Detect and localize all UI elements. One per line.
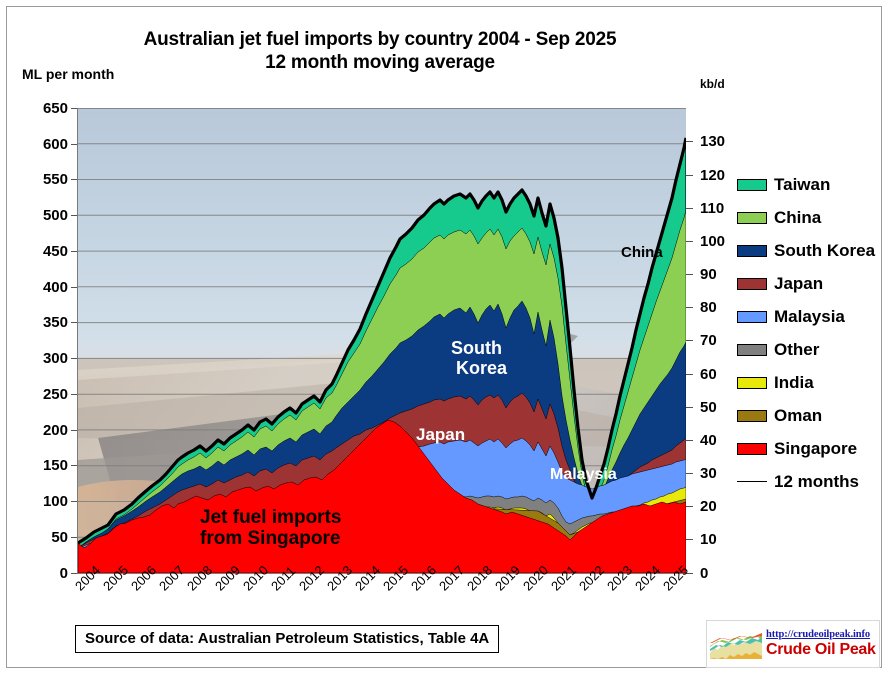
legend-swatch-12-months [737, 481, 767, 482]
y-right-label-70: 70 [700, 332, 742, 349]
legend-label-china: China [774, 208, 821, 228]
legend-swatch-malaysia [737, 311, 767, 323]
legend-label-other: Other [774, 340, 819, 360]
legend-item-japan[interactable]: Japan [737, 267, 885, 300]
legend-swatch-taiwan [737, 179, 767, 191]
legend-label-malaysia: Malaysia [774, 307, 845, 327]
annotation-japan: Japan [416, 425, 465, 444]
legend-swatch-other [737, 344, 767, 356]
legend-swatch-china [737, 212, 767, 224]
legend-label-12-months: 12 months [774, 472, 859, 492]
y-label-50: 50 [8, 529, 68, 546]
legend-swatch-singapore [737, 443, 767, 455]
y-label-550: 550 [8, 171, 68, 188]
y-right-label-120: 120 [700, 167, 742, 184]
logo-url[interactable]: http://crudeoilpeak.info [766, 629, 876, 640]
y-label-0: 0 [8, 565, 68, 582]
annotation-singapore-line2: from Singapore [200, 528, 340, 549]
legend-swatch-japan [737, 278, 767, 290]
y-label-400: 400 [8, 279, 68, 296]
y-label-250: 250 [8, 386, 68, 403]
legend: Taiwan China South Korea Japan Malaysia … [737, 168, 885, 498]
legend-item-12-months[interactable]: 12 months [737, 465, 885, 498]
y-label-200: 200 [8, 422, 68, 439]
legend-label-south-korea: South Korea [774, 241, 875, 261]
y-right-label-130: 130 [700, 133, 742, 150]
legend-item-malaysia[interactable]: Malaysia [737, 300, 885, 333]
annotation-south-korea-line2: Korea [456, 358, 507, 378]
y-right-label-80: 80 [700, 299, 742, 316]
legend-item-oman[interactable]: Oman [737, 399, 885, 432]
legend-label-oman: Oman [774, 406, 822, 426]
y-label-500: 500 [8, 207, 68, 224]
legend-item-india[interactable]: India [737, 366, 885, 399]
y-label-300: 300 [8, 350, 68, 367]
logo-mini-chart-icon [710, 629, 762, 659]
source-text: Source of data: Australian Petroleum Sta… [85, 630, 489, 647]
y-axis-unit-right: kb/d [700, 77, 725, 91]
legend-label-japan: Japan [774, 274, 823, 294]
y-right-label-30: 30 [700, 465, 742, 482]
annotation-south-korea-line1: South [451, 338, 502, 358]
y-label-650: 650 [8, 100, 68, 117]
y-axis-unit-left: ML per month [22, 66, 114, 82]
legend-label-singapore: Singapore [774, 439, 857, 459]
y-right-label-0: 0 [700, 565, 742, 582]
annotation-singapore-line1: Jet fuel imports [200, 507, 341, 528]
y-right-label-110: 110 [700, 200, 742, 217]
y-right-label-100: 100 [700, 233, 742, 250]
y-right-label-90: 90 [700, 266, 742, 283]
legend-label-taiwan: Taiwan [774, 175, 830, 195]
y-right-label-50: 50 [700, 399, 742, 416]
source-box: Source of data: Australian Petroleum Sta… [75, 625, 499, 653]
legend-item-singapore[interactable]: Singapore [737, 432, 885, 465]
crude-oil-peak-logo[interactable]: http://crudeoilpeak.info Crude Oil Peak [706, 620, 880, 668]
y-label-150: 150 [8, 457, 68, 474]
stacked-area-svg [78, 108, 686, 573]
y-label-450: 450 [8, 243, 68, 260]
y-right-label-20: 20 [700, 498, 742, 515]
chart-page: Australian jet fuel imports by country 2… [0, 0, 889, 675]
annotation-singapore: Jet fuel imports from Singapore [200, 507, 341, 550]
legend-swatch-oman [737, 410, 767, 422]
chart-title-line2: 12 month moving average [60, 51, 700, 74]
annotation-malaysia: Malaysia [550, 466, 617, 484]
legend-swatch-india [737, 377, 767, 389]
y-right-label-60: 60 [700, 366, 742, 383]
legend-item-other[interactable]: Other [737, 333, 885, 366]
y-label-600: 600 [8, 136, 68, 153]
y-label-100: 100 [8, 493, 68, 510]
chart-title-line1: Australian jet fuel imports by country 2… [60, 28, 700, 51]
logo-name: Crude Oil Peak [766, 641, 876, 659]
y-label-350: 350 [8, 314, 68, 331]
y-right-label-40: 40 [700, 432, 742, 449]
legend-item-south-korea[interactable]: South Korea [737, 234, 885, 267]
chart-title: Australian jet fuel imports by country 2… [60, 28, 700, 74]
legend-item-taiwan[interactable]: Taiwan [737, 168, 885, 201]
legend-swatch-south-korea [737, 245, 767, 257]
legend-item-china[interactable]: China [737, 201, 885, 234]
plot-area [77, 108, 686, 574]
y-right-label-10: 10 [700, 531, 742, 548]
annotation-south-korea: South Korea [446, 338, 507, 378]
legend-label-india: India [774, 373, 814, 393]
annotation-china: China [621, 245, 663, 262]
